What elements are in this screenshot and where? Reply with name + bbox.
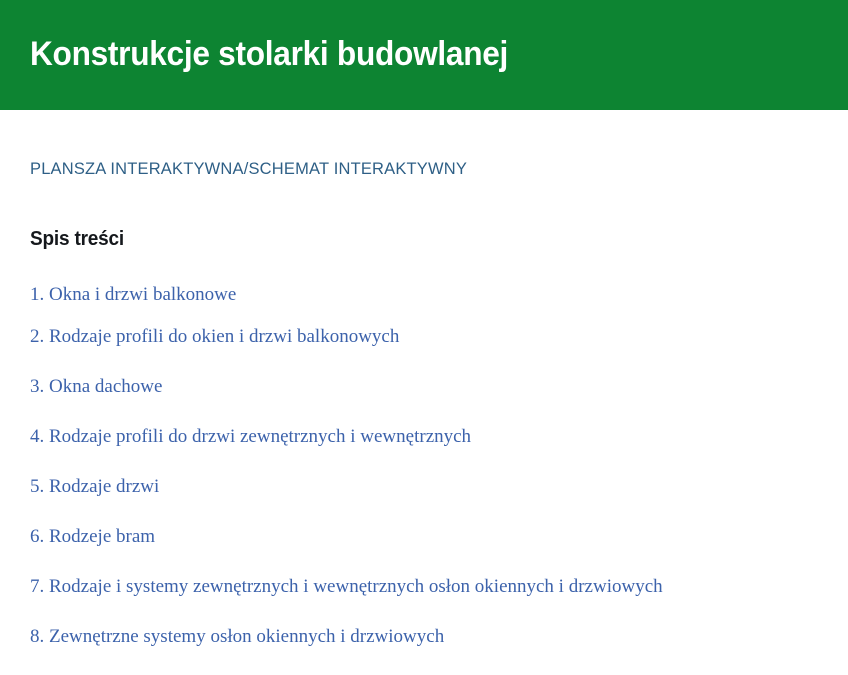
toc-link-1[interactable]: 1. Okna i drzwi balkonowe [30, 284, 236, 307]
table-of-contents-list: 1. Okna i drzwi balkonowe 2. Rodzaje pro… [30, 251, 818, 662]
list-item: 2. Rodzaje profili do okien i drzwi balk… [30, 312, 818, 362]
page-root: Konstrukcje stolarki budowlanej PLANSZA … [0, 0, 848, 675]
toc-link-8[interactable]: 8. Zewnętrzne systemy osłon okiennych i … [30, 626, 444, 649]
list-item: 4. Rodzaje profili do drzwi zewnętrznych… [30, 412, 818, 462]
toc-link-2[interactable]: 2. Rodzaje profili do okien i drzwi balk… [30, 326, 399, 349]
toc-link-5[interactable]: 5. Rodzaje drzwi [30, 476, 159, 499]
page-header-banner: Konstrukcje stolarki budowlanej [0, 0, 848, 110]
list-item: 3. Okna dachowe [30, 362, 818, 412]
toc-link-3[interactable]: 3. Okna dachowe [30, 376, 162, 399]
document-subtitle: PLANSZA INTERAKTYWNA/SCHEMAT INTERAKTYWN… [30, 110, 794, 179]
list-item: 6. Rodzeje bram [30, 512, 818, 562]
toc-link-7[interactable]: 7. Rodzaje i systemy zewnętrznych i wewn… [30, 576, 663, 599]
page-title: Konstrukcje stolarki budowlanej [30, 36, 508, 73]
toc-link-6[interactable]: 6. Rodzeje bram [30, 526, 155, 549]
list-item: 1. Okna i drzwi balkonowe [30, 251, 818, 312]
main-content: PLANSZA INTERAKTYWNA/SCHEMAT INTERAKTYWN… [0, 110, 848, 662]
toc-link-4[interactable]: 4. Rodzaje profili do drzwi zewnętrznych… [30, 426, 471, 449]
table-of-contents-heading: Spis treści [30, 179, 779, 251]
list-item: 5. Rodzaje drzwi [30, 462, 818, 512]
list-item: 7. Rodzaje i systemy zewnętrznych i wewn… [30, 562, 818, 612]
list-item: 8. Zewnętrzne systemy osłon okiennych i … [30, 612, 818, 662]
